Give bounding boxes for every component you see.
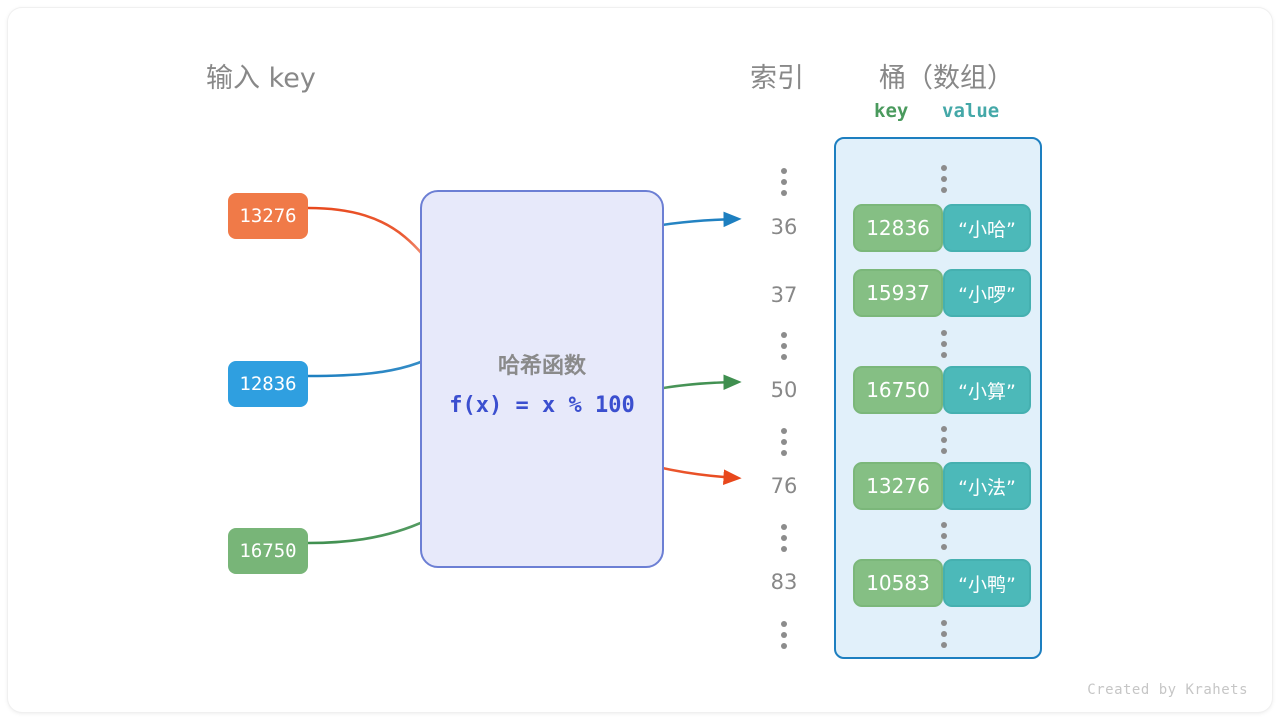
hash-function-title: 哈希函数 [420,348,664,380]
input-key-box-13276[interactable]: 13276 [228,193,308,239]
bucket-entry-value: “小法” [943,462,1031,510]
input-key-box-12836[interactable]: 12836 [228,361,308,407]
bucket-entry-10583[interactable]: 10583 “小鸭” [853,559,1031,607]
footer-credit: Created by Krahets [1087,682,1248,698]
index-ellipsis-4 [781,524,787,552]
input-key-label: 12836 [239,373,296,395]
bucket-entry-value: “小算” [943,366,1031,414]
bucket-entry-key: 15937 [853,269,943,317]
bucket-ellipsis-bottom [941,620,947,648]
bucket-ellipsis-top [941,165,947,193]
index-value-76: 76 [748,474,820,498]
index-ellipsis-2 [781,332,787,360]
bucket-entry-value: “小啰” [943,269,1031,317]
bucket-entry-key: 10583 [853,559,943,607]
bucket-ellipsis-4 [941,522,947,550]
heading-bucket: 桶（数组） [879,56,1014,95]
index-value-50: 50 [748,378,820,402]
index-value-37: 37 [748,283,820,307]
bucket-key-header: key [874,100,908,122]
index-value-36: 36 [748,215,820,239]
diagram-card: 输入 key 索引 桶（数组） key value 13276 12836 16… [8,8,1272,712]
bucket-entry-key: 12836 [853,204,943,252]
index-ellipsis-3 [781,428,787,456]
bucket-entry-16750[interactable]: 16750 “小算” [853,366,1031,414]
index-ellipsis-top [781,168,787,196]
bucket-entry-key: 16750 [853,366,943,414]
bucket-value-header: value [942,100,999,122]
bucket-ellipsis-2 [941,330,947,358]
input-key-box-16750[interactable]: 16750 [228,528,308,574]
input-key-label: 13276 [239,205,296,227]
hash-function-formula: f(x) = x % 100 [420,393,664,418]
bucket-entry-value: “小鸭” [943,559,1031,607]
heading-input-key: 输入 key [206,56,316,95]
bucket-entry-12836[interactable]: 12836 “小哈” [853,204,1031,252]
index-value-83: 83 [748,570,820,594]
bucket-entry-key: 13276 [853,462,943,510]
bucket-ellipsis-3 [941,426,947,454]
input-key-label: 16750 [239,540,296,562]
bucket-entry-15937[interactable]: 15937 “小啰” [853,269,1031,317]
heading-index: 索引 [750,56,804,95]
bucket-entry-value: “小哈” [943,204,1031,252]
bucket-entry-13276[interactable]: 13276 “小法” [853,462,1031,510]
index-ellipsis-bottom [781,621,787,649]
